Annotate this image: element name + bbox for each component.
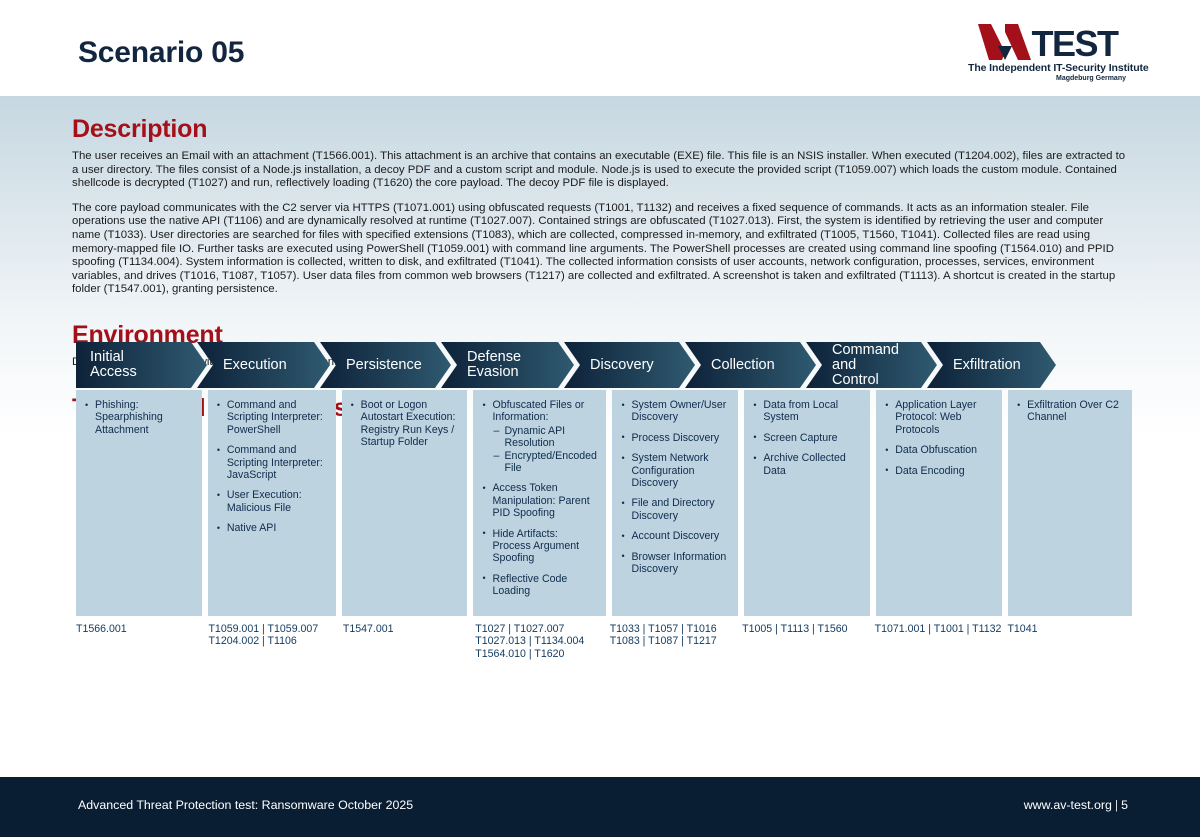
footer-site-and-page: www.av-test.org|5 — [1024, 798, 1128, 812]
tactic-label-line1: Command and — [832, 343, 919, 373]
technique-list: Exfiltration Over C2 Channel — [1017, 399, 1122, 424]
footer-test-name: Advanced Threat Protection test: Ransomw… — [78, 798, 413, 812]
technique-item: Process Discovery — [621, 432, 728, 444]
technique-ids-cell: T1005 | T1113 | T1560 — [742, 623, 868, 661]
technique-id-line: T1564.010 | T1620 — [475, 648, 603, 661]
technique-list: Command and Scripting Interpreter: Power… — [217, 399, 326, 535]
technique-columns-row: Phishing: Spearphishing AttachmentComman… — [76, 390, 1132, 616]
av-mark-icon — [978, 24, 1034, 60]
technique-ids-cell: T1041 — [1007, 623, 1132, 661]
page-header: Scenario 05 TEST The Independent IT-Secu… — [0, 0, 1200, 96]
technique-ids-cell: T1033 | T1057 | T1016T1083 | T1087 | T12… — [610, 623, 736, 661]
technique-id-line: T1041 — [1007, 623, 1132, 636]
technique-id-line: T1566.001 — [76, 623, 202, 636]
technique-ids-cell: T1566.001 — [76, 623, 202, 661]
technique-ids-cell: T1059.001 | T1059.007T1204.002 | T1106 — [208, 623, 336, 661]
description-paragraph-1: The user receives an Email with an attac… — [72, 150, 1128, 191]
technique-column: Data from Local SystemScreen CaptureArch… — [744, 390, 870, 616]
tactic-header-initial-access: InitialAccess — [76, 342, 207, 388]
page-footer: Advanced Threat Protection test: Ransomw… — [0, 777, 1200, 837]
tactic-label-line2: Evasion — [467, 365, 521, 380]
sub-technique-item: Encrypted/Encoded File — [492, 450, 596, 475]
tactic-header-execution: Execution — [197, 342, 330, 388]
logo-city: Magdeburg Germany — [968, 75, 1128, 82]
technique-item: Data from Local System — [753, 399, 860, 424]
technique-list: Data from Local SystemScreen CaptureArch… — [753, 399, 860, 477]
technique-item: Exfiltration Over C2 Channel — [1017, 399, 1122, 424]
technique-column: System Owner/User DiscoveryProcess Disco… — [612, 390, 738, 616]
tactic-header-exfiltration: Exfiltration — [927, 342, 1056, 388]
technique-item: Phishing: Spearphishing Attachment — [85, 399, 192, 436]
technique-item: Screen Capture — [753, 432, 860, 444]
technique-list: Application Layer Protocol: Web Protocol… — [885, 399, 992, 477]
technique-ids-row: T1566.001T1059.001 | T1059.007T1204.002 … — [76, 623, 1132, 661]
technique-item: System Network Configuration Discovery — [621, 452, 728, 489]
technique-item: User Execution: Malicious File — [217, 489, 326, 514]
logo-text: TEST — [1031, 27, 1117, 60]
technique-item: Boot or Logon Autostart Execution: Regis… — [351, 399, 458, 449]
technique-list: System Owner/User DiscoveryProcess Disco… — [621, 399, 728, 575]
technique-column: Application Layer Protocol: Web Protocol… — [876, 390, 1002, 616]
technique-item: Reflective Code Loading — [482, 573, 596, 598]
logo-wordmark: TEST — [968, 22, 1128, 60]
technique-item: Hide Artifacts: Process Argument Spoofin… — [482, 528, 596, 565]
technique-id-line: T1083 | T1087 | T1217 — [610, 635, 736, 648]
technique-id-line: T1547.001 — [343, 623, 469, 636]
technique-item: Obfuscated Files or Information:Dynamic … — [482, 399, 596, 474]
tactic-label-line1: Exfiltration — [953, 358, 1021, 373]
technique-item: System Owner/User Discovery — [621, 399, 728, 424]
footer-separator: | — [1112, 798, 1121, 812]
technique-list: Boot or Logon Autostart Execution: Regis… — [351, 399, 458, 449]
technique-id-line: T1027 | T1027.007 — [475, 623, 603, 636]
technique-ids-cell: T1547.001 — [343, 623, 469, 661]
page-title: Scenario 05 — [78, 36, 244, 70]
tactic-label-line1: Execution — [223, 358, 287, 373]
technique-item: Data Encoding — [885, 465, 992, 477]
technique-id-line: T1005 | T1113 | T1560 — [742, 623, 868, 636]
technique-ids-cell: T1027 | T1027.007T1027.013 | T1134.004T1… — [475, 623, 603, 661]
technique-column: Phishing: Spearphishing Attachment — [76, 390, 202, 616]
tactic-header-defense-evasion: DefenseEvasion — [441, 342, 574, 388]
technique-column: Boot or Logon Autostart Execution: Regis… — [342, 390, 468, 616]
technique-column: Obfuscated Files or Information:Dynamic … — [473, 390, 606, 616]
technique-id-line: T1027.013 | T1134.004 — [475, 635, 603, 648]
sub-technique-list: Dynamic API ResolutionEncrypted/Encoded … — [492, 425, 596, 475]
technique-ids-cell: T1071.001 | T1001 | T1132 — [875, 623, 1002, 661]
technique-item: File and Directory Discovery — [621, 497, 728, 522]
tactics-and-techniques-matrix: InitialAccessExecutionPersistenceDefense… — [76, 342, 1132, 661]
tactic-label-line1: Defense — [467, 350, 521, 365]
technique-item: Native API — [217, 522, 326, 534]
technique-item: Archive Collected Data — [753, 452, 860, 477]
description-paragraph-2: The core payload communicates with the C… — [72, 202, 1128, 297]
tactic-header-collection: Collection — [685, 342, 816, 388]
tactic-header-command-and-control: Command andControl — [806, 342, 937, 388]
document-page: Scenario 05 TEST The Independent IT-Secu… — [0, 0, 1200, 837]
tactic-label-line1: Persistence — [346, 358, 422, 373]
description-heading: Description — [72, 115, 1128, 144]
tactic-label-line2: Access — [90, 365, 137, 380]
technique-item: Application Layer Protocol: Web Protocol… — [885, 399, 992, 436]
technique-item: Command and Scripting Interpreter: JavaS… — [217, 444, 326, 481]
logo-tagline: The Independent IT-Security Institute — [968, 62, 1128, 74]
technique-id-line: T1059.001 | T1059.007 — [208, 623, 336, 636]
technique-column: Exfiltration Over C2 Channel — [1008, 390, 1132, 616]
footer-website[interactable]: www.av-test.org — [1024, 798, 1112, 812]
technique-item: Data Obfuscation — [885, 444, 992, 456]
technique-id-line: T1204.002 | T1106 — [208, 635, 336, 648]
av-test-logo: TEST The Independent IT-Security Institu… — [968, 22, 1128, 82]
technique-item: Access Token Manipulation: Parent PID Sp… — [482, 482, 596, 519]
footer-page-number: 5 — [1121, 798, 1128, 812]
technique-column: Command and Scripting Interpreter: Power… — [208, 390, 336, 616]
tactic-label-line1: Initial — [90, 350, 137, 365]
tactic-label-line1: Discovery — [590, 358, 654, 373]
technique-id-line: T1071.001 | T1001 | T1132 — [875, 623, 1002, 636]
tactic-label-line1: Collection — [711, 358, 775, 373]
tactic-header-persistence: Persistence — [320, 342, 451, 388]
technique-item: Account Discovery — [621, 530, 728, 542]
sub-technique-item: Dynamic API Resolution — [492, 425, 596, 450]
technique-list: Phishing: Spearphishing Attachment — [85, 399, 192, 436]
technique-id-line: T1033 | T1057 | T1016 — [610, 623, 736, 636]
technique-item: Command and Scripting Interpreter: Power… — [217, 399, 326, 436]
tactic-header-row: InitialAccessExecutionPersistenceDefense… — [76, 342, 1132, 388]
tactic-header-discovery: Discovery — [564, 342, 695, 388]
tactic-label-line2: Control — [832, 373, 919, 388]
technique-list: Obfuscated Files or Information:Dynamic … — [482, 399, 596, 598]
technique-item: Browser Information Discovery — [621, 551, 728, 576]
